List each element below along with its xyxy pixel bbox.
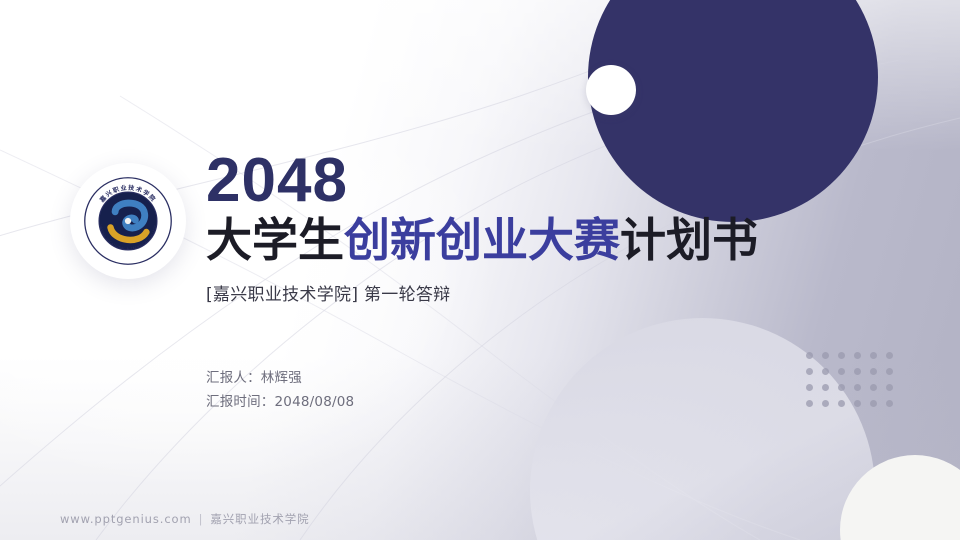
footer: www.pptgenius.com | 嘉兴职业技术学院: [60, 511, 310, 527]
footer-site-url: www.pptgenius.com: [60, 512, 192, 526]
title-block: 2048 大学生创新创业大赛计划书 [嘉兴职业技术学院] 第一轮答辩: [206, 150, 846, 305]
college-logo-badge: 嘉兴职业技术学院 JIAXING VOCATIONAL & TECHNICAL …: [70, 163, 186, 279]
presenter-name-line: 汇报人：林辉强: [206, 367, 354, 391]
headline-title: 大学生创新创业大赛计划书: [206, 216, 846, 266]
year-number: 2048: [206, 150, 846, 212]
footer-organization: 嘉兴职业技术学院: [210, 511, 309, 527]
subtitle-text: [嘉兴职业技术学院] 第一轮答辩: [206, 280, 846, 305]
presentation-date-line: 汇报时间：2048/08/08: [206, 391, 354, 415]
presentation-title-slide: 嘉兴职业技术学院 JIAXING VOCATIONAL & TECHNICAL …: [0, 0, 960, 540]
small-white-circle: [586, 65, 636, 115]
presenter-meta-block: 汇报人：林辉强 汇报时间：2048/08/08: [206, 367, 354, 414]
dot-grid-decoration: [806, 352, 902, 416]
headline-part-1: 大学生: [206, 213, 344, 267]
headline-part-2-accent: 创新创业大赛: [344, 213, 620, 267]
college-emblem-icon: 嘉兴职业技术学院 JIAXING VOCATIONAL & TECHNICAL …: [82, 175, 174, 267]
footer-separator: |: [199, 512, 204, 526]
headline-part-3: 计划书: [620, 213, 758, 267]
